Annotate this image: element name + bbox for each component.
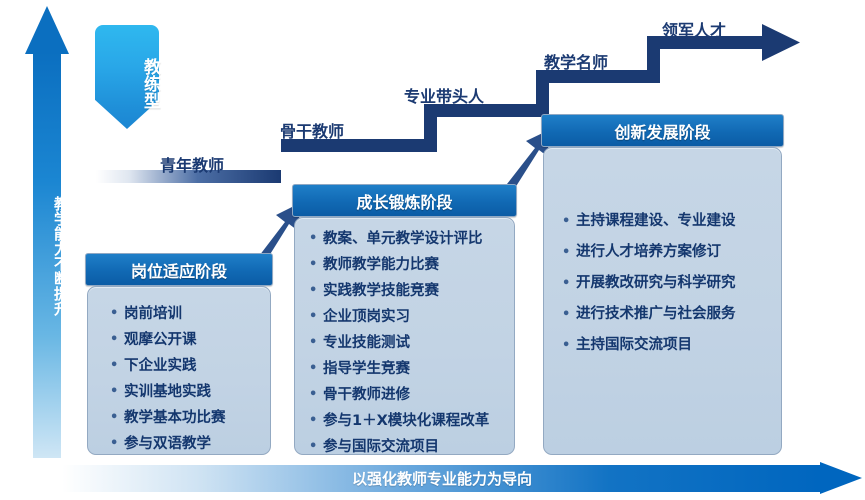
diagram-canvas: 教学能力不断提升 教练型 青年教师 骨干教师 专业带头人 教学名师 领军人才: [0, 0, 865, 500]
list-item: 参与双语教学: [110, 431, 266, 457]
list-item: 参与1＋X模块化课程改革: [309, 408, 510, 434]
list-item: 教案、单元教学设计评比: [309, 226, 510, 252]
stair-label-4: 教学名师: [544, 49, 608, 73]
bottom-axis-label: 以强化教师专业能力为导向: [62, 465, 822, 492]
list-item: 骨干教师进修: [309, 382, 510, 408]
list-item: 参与国际交流项目: [309, 434, 510, 460]
stair-label-3: 专业带头人: [404, 83, 484, 107]
list-item: 下企业实践: [110, 353, 266, 379]
panel-1-list: 岗前培训 观摩公开课 下企业实践 实训基地实践 教学基本功比赛 参与双语教学: [88, 287, 270, 457]
panel-2-title: 成长锻炼阶段: [292, 184, 517, 217]
list-item: 企业顶岗实习: [309, 304, 510, 330]
stair-label-5: 领军人才: [662, 17, 726, 41]
stair-label-2: 骨干教师: [280, 118, 344, 142]
list-item: 主持国际交流项目: [562, 330, 777, 361]
stage-panel-2[interactable]: 成长锻炼阶段 教案、单元教学设计评比 教师教学能力比赛 实践教学技能竞赛 企业顶…: [292, 184, 517, 455]
panel-3-list: 主持课程建设、专业建设 进行人才培养方案修订 开展教改研究与科学研究 进行技术推…: [544, 148, 781, 361]
list-item: 实训基地实践: [110, 379, 266, 405]
stage-panel-3[interactable]: 创新发展阶段 主持课程建设、专业建设 进行人才培养方案修订 开展教改研究与科学研…: [541, 114, 784, 455]
list-item: 进行人才培养方案修订: [562, 237, 777, 268]
list-item: 开展教改研究与科学研究: [562, 268, 777, 299]
bottom-orientation-arrow: 以强化教师专业能力为导向: [62, 462, 862, 495]
list-item: 实践教学技能竞赛: [309, 278, 510, 304]
list-item: 进行技术推广与社会服务: [562, 299, 777, 330]
stair-label-1: 青年教师: [160, 152, 224, 176]
list-item: 主持课程建设、专业建设: [562, 206, 777, 237]
list-item: 观摩公开课: [110, 327, 266, 353]
right-arrow-icon: [820, 462, 862, 494]
panel-1-body: 岗前培训 观摩公开课 下企业实践 实训基地实践 教学基本功比赛 参与双语教学: [87, 286, 271, 455]
list-item: 教学基本功比赛: [110, 405, 266, 431]
panel-3-title: 创新发展阶段: [541, 114, 784, 147]
list-item: 岗前培训: [110, 301, 266, 327]
panel-3-body: 主持课程建设、专业建设 进行人才培养方案修订 开展教改研究与科学研究 进行技术推…: [543, 147, 782, 455]
list-item: 教师教学能力比赛: [309, 252, 510, 278]
panel-1-title: 岗位适应阶段: [85, 253, 273, 286]
panel-2-list: 教案、单元教学设计评比 教师教学能力比赛 实践教学技能竞赛 企业顶岗实习 专业技…: [295, 218, 514, 460]
list-item: 专业技能测试: [309, 330, 510, 356]
stage-panel-1[interactable]: 岗位适应阶段 岗前培训 观摩公开课 下企业实践 实训基地实践 教学基本功比赛 参…: [85, 253, 273, 455]
panel-2-body: 教案、单元教学设计评比 教师教学能力比赛 实践教学技能竞赛 企业顶岗实习 专业技…: [294, 217, 515, 455]
list-item: 指导学生竞赛: [309, 356, 510, 382]
